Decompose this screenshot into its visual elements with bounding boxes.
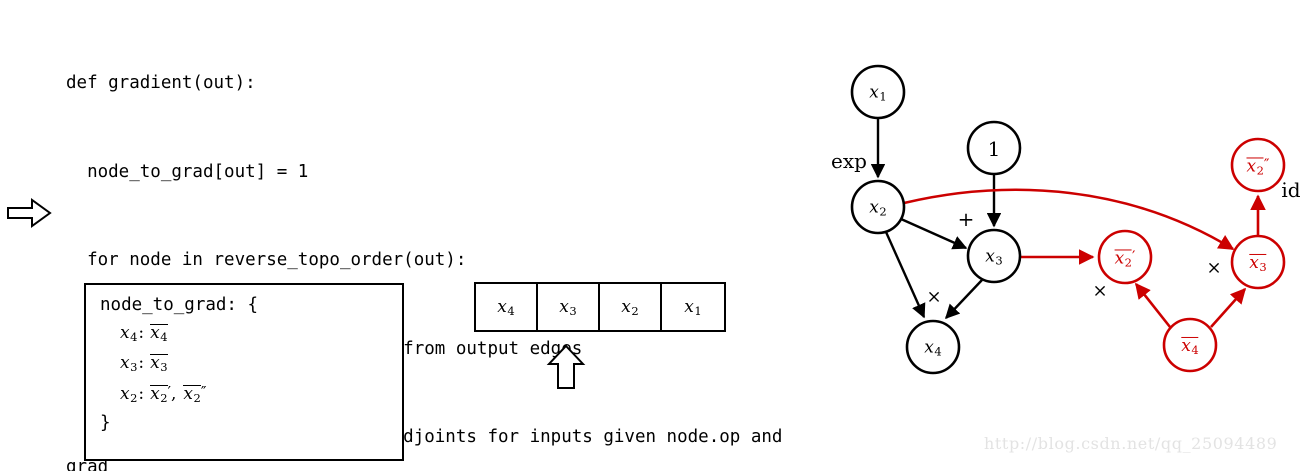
math-variable: x4: [120, 323, 137, 344]
graph-node-x3[interactable]: [968, 230, 1020, 282]
math-variable: x3: [1249, 253, 1266, 273]
math-variable: x2″: [1246, 156, 1269, 176]
node-to-grad-close-brace: }: [100, 413, 111, 433]
node-to-grad-entry: x4:x4: [120, 323, 206, 353]
code-line: for node in reverse_topo_order(out):: [66, 246, 796, 276]
math-variable: x4: [497, 297, 514, 318]
math-variable: x3: [150, 353, 167, 373]
math-variable: x1: [869, 83, 886, 103]
graph-node-label-x1: x1: [869, 83, 886, 104]
graph-node-g2p[interactable]: [1099, 231, 1151, 283]
edge-x2-x3: [901, 219, 966, 248]
tape-cell[interactable]: x4: [476, 284, 538, 330]
graph-node-label-g4: x4: [1181, 336, 1198, 356]
math-variable: x2: [869, 198, 886, 218]
edge-x3-x4: [946, 280, 982, 318]
graph-node-label-g2p: x2′: [1115, 247, 1136, 268]
edge-label: +: [958, 207, 975, 231]
graph-node-label-one: 1: [988, 137, 1001, 161]
graph-node-x2[interactable]: [852, 181, 904, 233]
entry-comma: ,: [171, 384, 183, 404]
tape-pointer-up-arrow-icon: [546, 344, 586, 390]
math-variable: x3: [985, 247, 1002, 267]
math-variable: x2″: [183, 383, 206, 404]
math-variable: x2′: [150, 383, 171, 404]
node-to-grad-entries: x4:x4x3:x3x2:x2′,x2″: [120, 323, 206, 413]
graph-node-x4[interactable]: [907, 321, 959, 373]
graph-node-label-x4: x4: [924, 338, 941, 359]
graph-node-label-g2pp: x2″: [1246, 155, 1269, 176]
code-line: def gradient(out):: [66, 69, 796, 99]
entry-colon: :: [137, 353, 150, 373]
edge-x2bar-to-x3bar: [904, 190, 1233, 249]
graph-node-x1[interactable]: [852, 66, 904, 118]
edge-x4bar-to-x3bar: [1211, 289, 1245, 327]
edge-label: ×: [926, 287, 941, 308]
node-to-grad-entry: x2:x2′,x2″: [120, 383, 206, 413]
watermark-text: http://blog.csdn.net/qq_25094489: [984, 434, 1277, 453]
edge-label: exp: [831, 149, 867, 173]
step-arrow-icon: [6, 196, 52, 230]
edge-label: ×: [1206, 258, 1221, 279]
tape-cell[interactable]: x3: [538, 284, 600, 330]
math-variable: x3: [120, 353, 137, 374]
graph-node-circles: [852, 66, 1284, 373]
node-to-grad-title: node_to_grad: {: [100, 295, 258, 315]
tape-cell[interactable]: x1: [662, 284, 724, 330]
entry-colon: :: [137, 384, 150, 404]
edge-x4bar-to-x2barprime: [1136, 284, 1170, 327]
math-variable: x4: [1181, 336, 1198, 356]
topo-order-tape: x4x3x2x1: [474, 282, 726, 332]
slide-canvas: def gradient(out): node_to_grad[out] = 1…: [0, 0, 1314, 471]
tape-cell[interactable]: x2: [600, 284, 662, 330]
node-to-grad-entry: x3:x3: [120, 353, 206, 383]
math-variable: x4: [924, 338, 941, 358]
graph-node-one[interactable]: [968, 122, 1020, 174]
graph-node-g4[interactable]: [1164, 319, 1216, 371]
graph-node-label-x3: x3: [985, 247, 1002, 268]
math-variable: x2′: [1115, 248, 1136, 268]
code-line: node_to_grad[out] = 1: [66, 158, 796, 188]
entry-colon: :: [137, 323, 150, 343]
math-variable: x3: [559, 297, 576, 318]
graph-node-g3[interactable]: [1232, 236, 1284, 288]
graph-node-label-x2: x2: [869, 198, 886, 219]
math-variable: x1: [684, 297, 701, 318]
edge-label: id: [1281, 178, 1300, 202]
graph-node-label-g3: x3: [1249, 253, 1266, 273]
math-variable: x4: [150, 323, 167, 343]
math-variable: x2: [621, 297, 638, 318]
edge-x2-x4: [886, 232, 924, 317]
math-variable: x2: [120, 384, 137, 405]
edge-label: ×: [1092, 281, 1107, 302]
node-to-grad-box: node_to_grad: { x4:x4x3:x3x2:x2′,x2″ }: [84, 283, 404, 461]
graph-node-g2pp[interactable]: [1232, 139, 1284, 191]
